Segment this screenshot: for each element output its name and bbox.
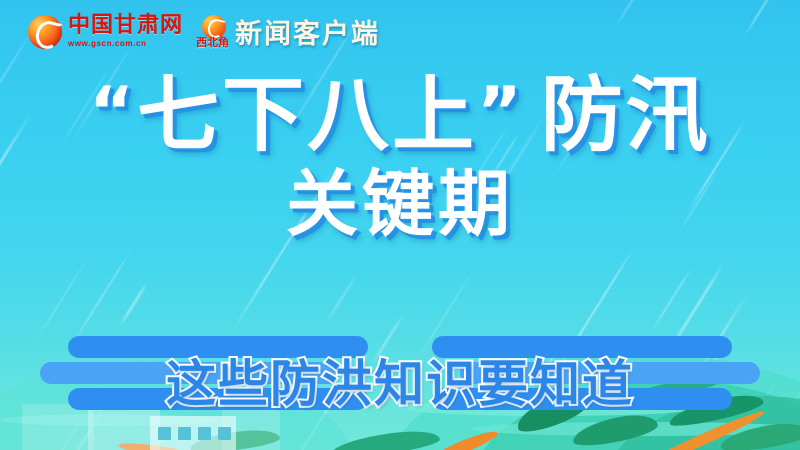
rain-streak [615,0,646,26]
headline-suffix: 防汛 [541,68,711,163]
building-window [178,427,191,440]
app-logo-name: 新闻客户端 [235,12,380,51]
headline-line-2: 关键期 [0,168,800,241]
quote-close: ” [477,73,525,152]
orange-stem-1 [430,427,499,450]
site-logo-url: www.gscn.com.cn [68,40,183,48]
building-window [198,427,211,440]
subtitle-text: 这些防洪知识要知道 [0,344,800,416]
headline-phrase: 七下八上 [137,68,477,163]
rain-streak [742,0,784,38]
gansu-net-flame-icon [28,15,62,49]
site-logo-name: 中国甘肃网 [68,15,183,37]
quote-open: “ [89,73,137,152]
water-stream-b [470,422,800,436]
rain-streak [324,272,359,325]
site-logo[interactable]: 中国甘肃网 www.gscn.com.cn [28,15,183,49]
app-logo-badge: 西北角 [196,34,229,50]
grass-blade-4 [719,420,800,450]
building-window [218,427,231,440]
xibeijiao-sun-icon: 西北角 [199,15,229,49]
headline-group: “七下八上”防汛 关键期 [0,74,800,241]
poster-canvas: 中国甘肃网 www.gscn.com.cn 西北角 新闻客户端 “七下八上”防汛… [0,0,800,450]
grass-blade-5 [189,427,280,450]
site-logo-text: 中国甘肃网 www.gscn.com.cn [68,15,183,48]
header-branding: 中国甘肃网 www.gscn.com.cn 西北角 新闻客户端 [28,12,380,51]
headline-line-1: “七下八上”防汛 [0,74,800,158]
subtitle-band: 这些防洪知识要知道 [0,322,800,422]
app-logo[interactable]: 西北角 新闻客户端 [199,12,380,51]
grass-blade-6 [329,427,441,450]
orange-stem-3 [118,440,199,450]
building-window [158,427,171,440]
